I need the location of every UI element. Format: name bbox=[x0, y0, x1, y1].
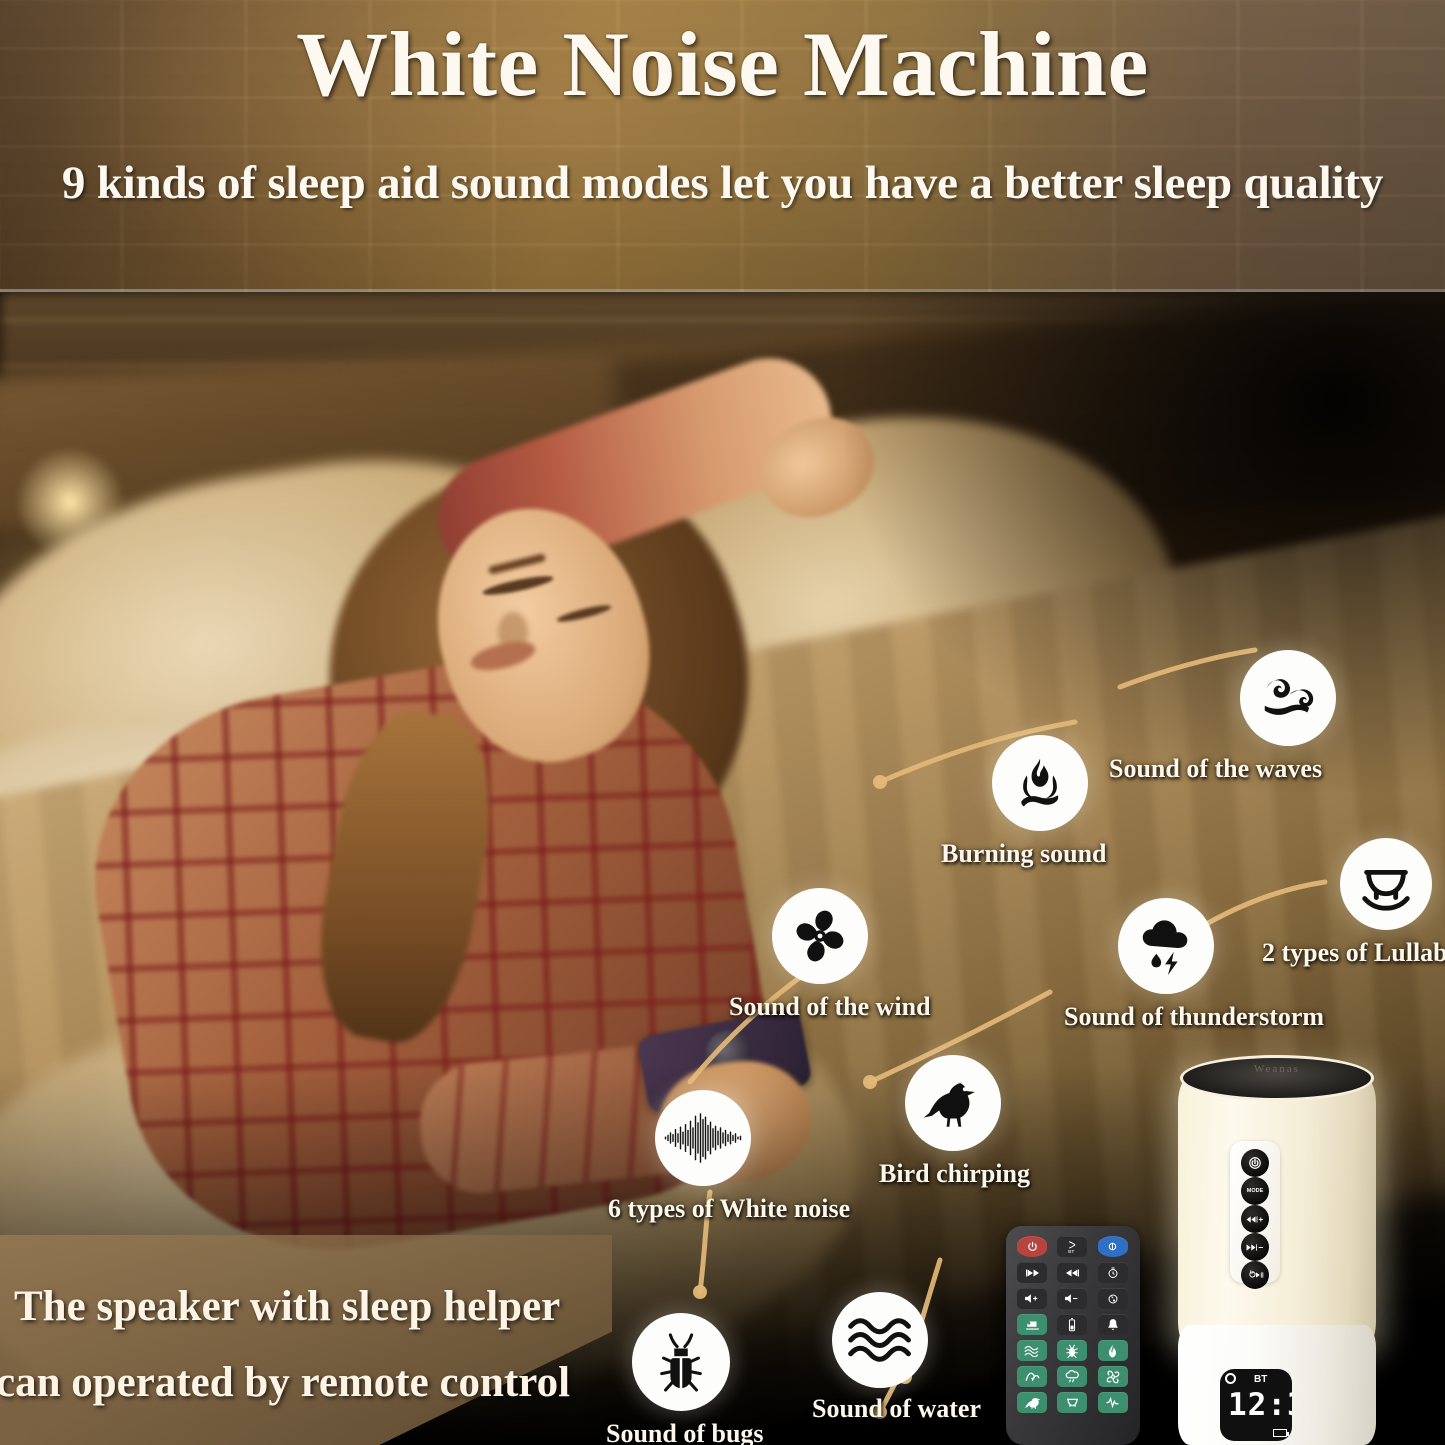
brand-label: Weanas bbox=[1180, 1063, 1374, 1075]
play-pause-button[interactable] bbox=[1241, 1261, 1269, 1289]
remote-storm-sound-button[interactable] bbox=[1057, 1366, 1087, 1387]
battery-indicator-icon bbox=[1273, 1429, 1287, 1437]
callout-label-water: Sound of water bbox=[812, 1394, 981, 1424]
callout-label-bird: Bird chirping bbox=[879, 1159, 1030, 1189]
callout-label-bugs: Sound of bugs bbox=[606, 1419, 764, 1445]
next-volup-button[interactable] bbox=[1241, 1205, 1269, 1233]
remote-wave-sound-button[interactable] bbox=[1017, 1366, 1047, 1387]
page-title: White Noise Machine bbox=[0, 18, 1445, 110]
remote-bird-sound-button[interactable] bbox=[1017, 1392, 1047, 1413]
remote-battery-button[interactable] bbox=[1057, 1314, 1087, 1335]
page-subtitle: 9 kinds of sleep aid sound modes let you… bbox=[0, 160, 1445, 207]
remote-water-sound-button[interactable] bbox=[1017, 1340, 1047, 1361]
speaker-display: BT 12:30 bbox=[1220, 1369, 1292, 1441]
remote-bug-sound-button[interactable] bbox=[1057, 1340, 1087, 1361]
remote-volume-down-button[interactable] bbox=[1057, 1288, 1087, 1309]
remote-fire-sound-button[interactable] bbox=[1098, 1340, 1128, 1361]
callout-whitenoise[interactable]: 6 types of White noise bbox=[655, 1090, 751, 1186]
campfire-icon bbox=[992, 735, 1088, 831]
callout-thunderstorm[interactable]: Sound of thunderstorm bbox=[1118, 898, 1214, 994]
white-noise-speaker[interactable]: Weanas MODE BT 12:30 bbox=[1168, 1055, 1386, 1445]
remote-power-button[interactable] bbox=[1017, 1236, 1047, 1257]
remote-lullaby-sound-button[interactable] bbox=[1057, 1392, 1087, 1413]
cradle-icon bbox=[1340, 838, 1432, 930]
remote-previous-button[interactable] bbox=[1017, 1262, 1047, 1283]
remote-light-button[interactable] bbox=[1098, 1236, 1128, 1257]
callout-label-lullaby: 2 types of Lullaby bbox=[1262, 938, 1445, 968]
remote-color-mode-button[interactable] bbox=[1098, 1288, 1128, 1309]
storm-cloud-icon bbox=[1118, 898, 1214, 994]
remote-button-grid: BT bbox=[1017, 1236, 1129, 1413]
banner-line-2: can operated by remote control bbox=[0, 1358, 570, 1407]
mode-button[interactable]: MODE bbox=[1241, 1177, 1269, 1205]
callout-label-waves: Sound of the waves bbox=[1109, 754, 1322, 784]
water-ripple-icon bbox=[832, 1292, 928, 1388]
callout-bird[interactable]: Bird chirping bbox=[905, 1055, 1001, 1151]
bird-icon bbox=[905, 1055, 1001, 1151]
callout-label-burning: Burning sound bbox=[941, 839, 1106, 869]
remote-night-mode-button[interactable] bbox=[1017, 1314, 1047, 1335]
callout-label-whitenoise: 6 types of White noise bbox=[608, 1194, 850, 1224]
callout-waves[interactable]: Sound of the waves bbox=[1240, 650, 1336, 746]
banner-line-1: The speaker with sleep helper bbox=[14, 1282, 560, 1331]
remote-alarm-button[interactable] bbox=[1098, 1314, 1128, 1335]
remote-control[interactable]: BT bbox=[1006, 1226, 1140, 1445]
callout-label-thunderstorm: Sound of thunderstorm bbox=[1064, 1002, 1324, 1032]
waveform-icon bbox=[655, 1090, 751, 1186]
callout-label-wind: Sound of the wind bbox=[729, 992, 931, 1022]
svg-text:BT: BT bbox=[1068, 1249, 1074, 1254]
remote-volume-up-button[interactable] bbox=[1017, 1288, 1047, 1309]
product-marketing-image: White Noise Machine 9 kinds of sleep aid… bbox=[0, 0, 1445, 1445]
callout-bugs[interactable]: Sound of bugs bbox=[632, 1313, 730, 1411]
remote-whitenoise-sound-button[interactable] bbox=[1098, 1392, 1128, 1413]
callout-water[interactable]: Sound of water bbox=[832, 1292, 928, 1388]
callout-wind[interactable]: Sound of the wind bbox=[772, 888, 868, 984]
power-button[interactable] bbox=[1241, 1149, 1269, 1177]
remote-wind-sound-button[interactable] bbox=[1098, 1366, 1128, 1387]
callout-burning[interactable]: Burning sound bbox=[992, 735, 1088, 831]
waves-icon bbox=[1240, 650, 1336, 746]
remote-bluetooth-button[interactable]: BT bbox=[1057, 1236, 1087, 1257]
speaker-top-grille bbox=[1180, 1055, 1374, 1101]
clock-time: 12:30 bbox=[1228, 1383, 1290, 1428]
speaker-button-panel[interactable]: MODE bbox=[1230, 1141, 1280, 1283]
prev-voldown-button[interactable] bbox=[1241, 1233, 1269, 1261]
beetle-icon bbox=[632, 1313, 730, 1411]
remote-next-button[interactable] bbox=[1057, 1262, 1087, 1283]
dark-corner-vignette bbox=[845, 292, 1445, 792]
callout-lullaby[interactable]: 2 types of Lullaby bbox=[1340, 838, 1432, 930]
remote-timer-button[interactable] bbox=[1098, 1262, 1128, 1283]
fan-icon bbox=[772, 888, 868, 984]
